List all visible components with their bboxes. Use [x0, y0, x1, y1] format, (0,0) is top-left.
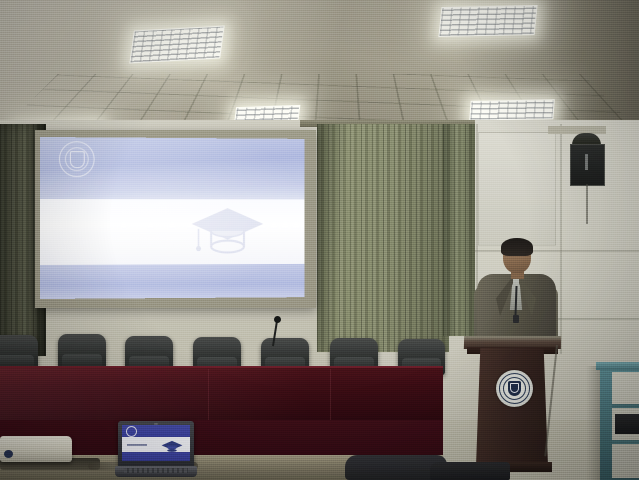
- speaker-slot: [585, 154, 588, 170]
- presenter-hair: [501, 238, 533, 256]
- ceiling-light-icon: [469, 99, 555, 120]
- projection-screen-surface: [40, 137, 304, 299]
- presenter-laptop[interactable]: [118, 421, 194, 479]
- laptop-screen: [122, 425, 190, 461]
- wall-seam: [560, 124, 562, 354]
- curtain-right: [443, 124, 475, 336]
- seal-shield-icon: [508, 381, 521, 396]
- podium: [476, 348, 548, 466]
- shelf-top: [596, 362, 639, 370]
- university-seal-icon: [59, 141, 95, 177]
- graduation-cap-icon: [161, 439, 183, 454]
- projection-screen: [35, 130, 316, 308]
- wall-panel: [478, 132, 556, 246]
- ceiling-light-icon: [129, 26, 224, 64]
- laptop-slide-top-band: [122, 425, 190, 437]
- podium-seal-icon: [496, 370, 533, 407]
- lecture-hall-photo: [0, 0, 639, 480]
- university-seal-icon: [126, 426, 137, 437]
- graduation-cap-icon: [190, 205, 265, 256]
- shelf-board: [612, 440, 639, 444]
- curtain-center: [317, 124, 449, 352]
- microphone-icon: [274, 316, 281, 323]
- skirt-seam: [330, 369, 331, 423]
- skirt-seam: [208, 369, 209, 423]
- shelf-board: [612, 404, 639, 408]
- projector-lens-icon: [4, 450, 13, 458]
- ceiling-light-icon: [438, 5, 537, 37]
- slide-bottom-band: [40, 264, 304, 299]
- laptop-keyboard[interactable]: [124, 468, 188, 473]
- laptop-lid: [118, 421, 194, 467]
- slide-top-band: [40, 137, 304, 199]
- head-table-skirt: [0, 368, 443, 423]
- speaker-bracket: [548, 126, 606, 134]
- badge-icon: [513, 315, 519, 323]
- video-projector: [0, 436, 72, 462]
- shelf-item: [615, 414, 639, 434]
- laptop-slide-title-line: [127, 444, 147, 446]
- equipment-bag-secondary: [430, 462, 510, 480]
- speaker-cable: [586, 184, 588, 224]
